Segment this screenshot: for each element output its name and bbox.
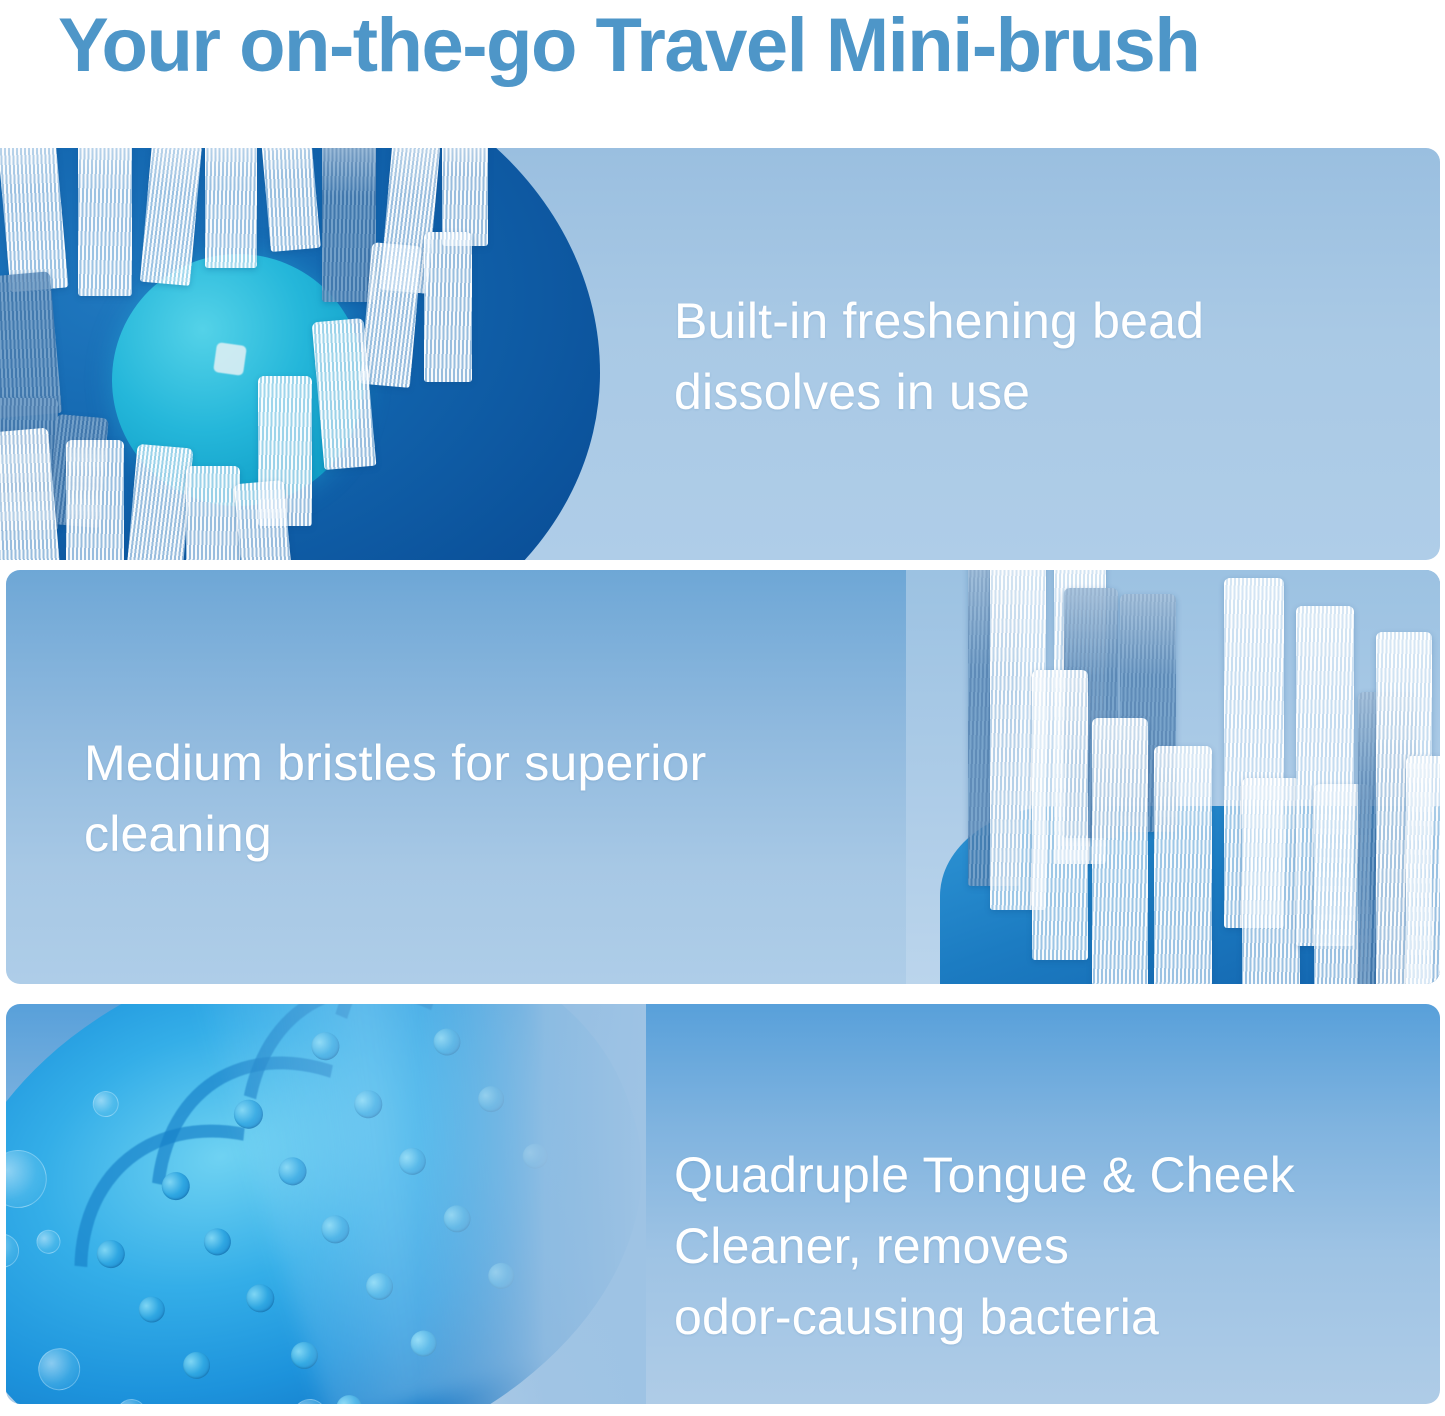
copy-line: Medium bristles for superior xyxy=(84,728,884,799)
bristle-tuft xyxy=(234,480,292,560)
bristle-tuft xyxy=(1092,718,1148,984)
feature-copy-1: Built-in freshening bead dissolves in us… xyxy=(674,286,1374,428)
copy-line: Cleaner, removes xyxy=(674,1211,1414,1282)
bristle-tuft xyxy=(1032,670,1088,960)
bristle-tuft xyxy=(1406,756,1440,984)
page-title: Your on-the-go Travel Mini-brush xyxy=(58,0,1438,102)
copy-line: dissolves in use xyxy=(674,357,1374,428)
bristle-tuft xyxy=(261,148,321,252)
bristle-tuft xyxy=(205,148,257,268)
bristle-tuft xyxy=(78,148,132,296)
bristle-tuft xyxy=(0,148,68,292)
bristle-tuft-blue xyxy=(322,148,376,302)
tongue-cheek-cleaner-image xyxy=(6,1004,646,1404)
copy-line: cleaning xyxy=(84,799,884,870)
bristle-tuft xyxy=(1242,778,1300,984)
image-edge-fade xyxy=(418,1004,646,1404)
feature-copy-3: Quadruple Tongue & Cheek Cleaner, remove… xyxy=(674,1140,1414,1353)
medium-bristles-image xyxy=(906,570,1440,984)
bristle-tuft xyxy=(1154,746,1212,984)
water-bubble xyxy=(33,1227,63,1257)
bristle-tuft xyxy=(127,444,194,560)
copy-line: Built-in freshening bead xyxy=(674,286,1374,357)
water-bubble xyxy=(6,1143,54,1215)
feature-copy-2: Medium bristles for superior cleaning xyxy=(84,728,884,870)
bristle-tuft xyxy=(66,440,124,560)
infographic-page: Your on-the-go Travel Mini-brush Built- xyxy=(0,0,1445,1416)
water-bubble xyxy=(33,1343,85,1395)
water-bubble xyxy=(89,1088,121,1120)
copy-line: odor-causing bacteria xyxy=(674,1282,1414,1353)
water-bubble xyxy=(6,1229,23,1271)
copy-line: Quadruple Tongue & Cheek xyxy=(674,1140,1414,1211)
bead-highlight-chip xyxy=(213,342,247,376)
bristle-tuft xyxy=(186,466,240,560)
bristle-tuft xyxy=(424,232,472,382)
brush-head-bead-image xyxy=(0,148,612,560)
